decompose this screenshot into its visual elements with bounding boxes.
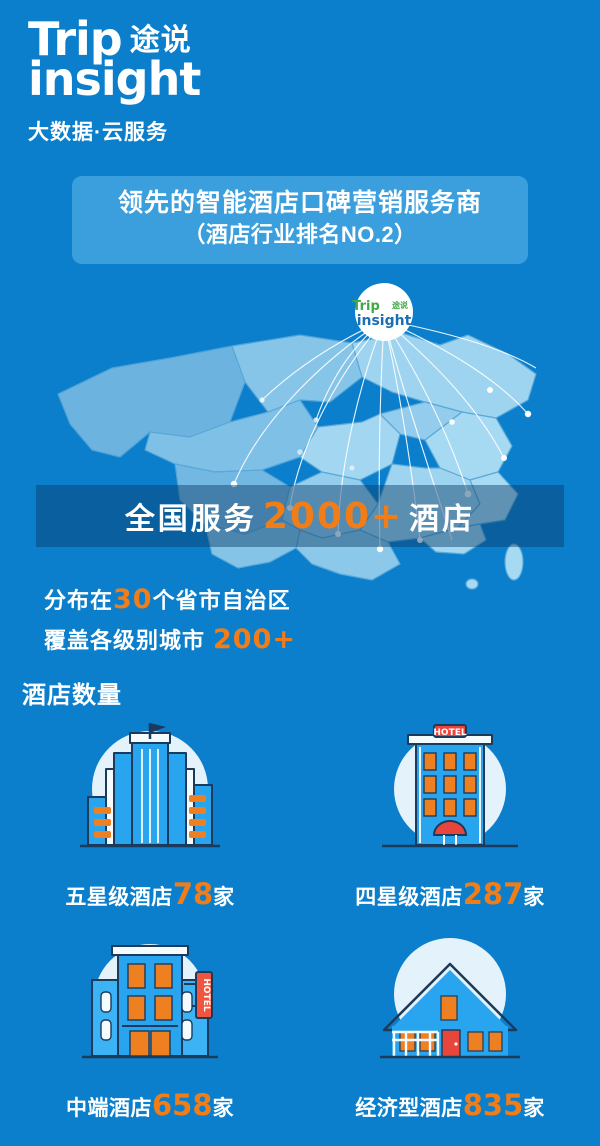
- skyscrapers-icon: [70, 715, 230, 875]
- house-lodge-icon: [370, 926, 530, 1086]
- card-label-prefix: 经济型酒店: [355, 1092, 463, 1122]
- nationwide-service-banner: 全国服务 2000+ 酒店: [36, 485, 564, 547]
- stat-line-cities: 覆盖各级别城市 200+: [44, 623, 296, 655]
- infographic-poster: Trip 途说 insight 大数据·云服务 领先的智能酒店口碑营销服务商 （…: [0, 0, 600, 1146]
- stat-number: 200+: [213, 624, 296, 655]
- svg-text:Trip: Trip: [352, 299, 380, 314]
- coverage-stats: 分布在 30 个省市自治区 覆盖各级别城市 200+: [44, 583, 296, 663]
- card-label-suffix: 家: [523, 1092, 545, 1122]
- svg-text:途说: 途说: [392, 300, 408, 310]
- headline-main-text: 领先的智能酒店口碑营销服务商: [82, 188, 518, 219]
- card-label-prefix: 四星级酒店: [355, 881, 463, 911]
- card-label-suffix: 家: [213, 1092, 235, 1122]
- card-four-star: HOTEL: [300, 715, 600, 920]
- hotel-sign-vertical-text: HOTEL: [201, 978, 211, 1011]
- card-label-number: 287: [463, 877, 524, 911]
- brand-logo: Trip 途说 insight 大数据·云服务: [28, 18, 388, 146]
- card-midscale: HOTEL 中端酒店: [0, 926, 300, 1131]
- section-title-hotel-count: 酒店数量: [22, 675, 122, 710]
- card-label-number: 78: [173, 877, 213, 911]
- stat-prefix: 分布在: [44, 583, 113, 615]
- svg-text:insight: insight: [357, 313, 412, 329]
- card-label: 五星级酒店 78 家: [65, 877, 234, 911]
- hotel-sign-text: HOTEL: [433, 728, 466, 738]
- stat-suffix: 个省市自治区: [153, 583, 291, 615]
- banner-hotel-count: 2000+: [263, 496, 403, 537]
- stat-line-provinces: 分布在 30 个省市自治区: [44, 583, 296, 615]
- map-hub-logo-badge: Trip 途说 insight: [352, 283, 413, 341]
- china-map-illustration: Trip 途说 insight: [0, 272, 600, 622]
- headline-sub-text: （酒店行业排名NO.2）: [82, 221, 518, 250]
- card-label-prefix: 中端酒店: [66, 1092, 152, 1122]
- card-label: 四星级酒店 287 家: [355, 877, 545, 911]
- headline-banner: 领先的智能酒店口碑营销服务商 （酒店行业排名NO.2）: [72, 176, 528, 264]
- logo-tagline: 大数据·云服务: [28, 116, 388, 146]
- card-label: 中端酒店 658 家: [66, 1088, 234, 1122]
- card-label-suffix: 家: [523, 881, 545, 911]
- card-five-star: 五星级酒店 78 家: [0, 715, 300, 920]
- stat-number: 30: [113, 584, 153, 615]
- map-landmass: [58, 333, 536, 589]
- banner-prefix-text: 全国服务: [125, 494, 257, 538]
- banner-suffix-text: 酒店: [409, 494, 475, 538]
- logo-insight-text: insight: [28, 56, 388, 102]
- card-label-number: 835: [463, 1088, 524, 1122]
- hotel-category-cards: 五星级酒店 78 家 HOTEL: [0, 715, 600, 1131]
- card-label-prefix: 五星级酒店: [65, 881, 173, 911]
- card-economy: 经济型酒店 835 家: [300, 926, 600, 1131]
- midscale-hotel-icon: HOTEL: [70, 926, 230, 1086]
- card-label-number: 658: [152, 1088, 213, 1122]
- stat-prefix: 覆盖各级别城市: [44, 623, 205, 655]
- card-label-suffix: 家: [213, 881, 235, 911]
- card-label: 经济型酒店 835 家: [355, 1088, 545, 1122]
- hotel-building-icon: HOTEL: [370, 715, 530, 875]
